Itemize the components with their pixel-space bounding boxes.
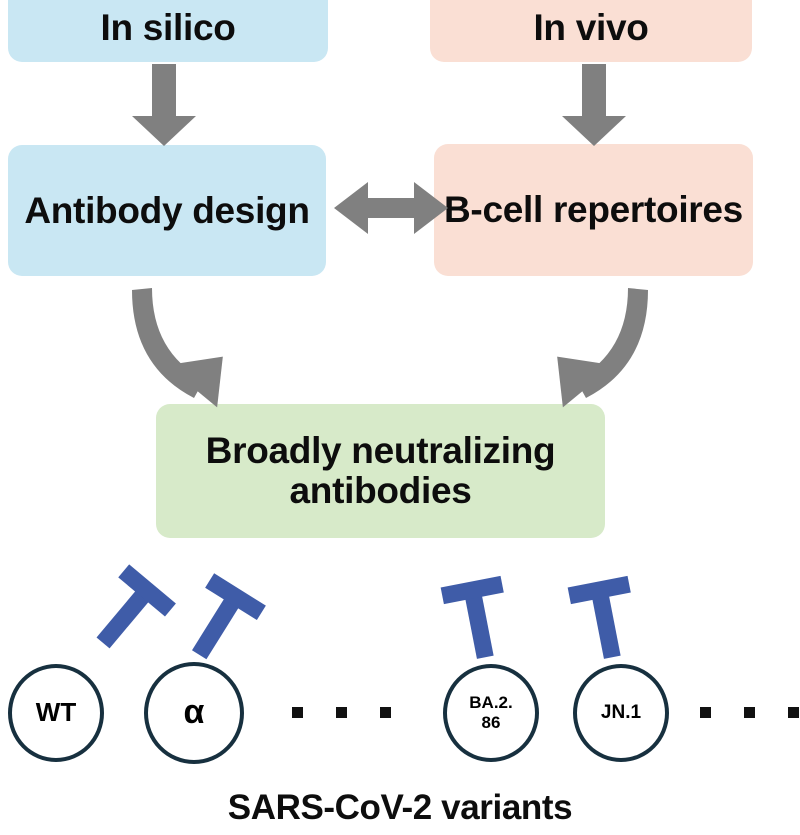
figure-canvas: In silico In vivo Antibody design B-cell…	[0, 0, 800, 835]
variant-label-ba286: BA.2. 86	[469, 693, 512, 732]
box-antibody-design-label: Antibody design	[24, 191, 309, 231]
ellipsis-dot	[788, 707, 799, 718]
variant-circle-jn1[interactable]: JN.1	[573, 664, 669, 762]
variant-label-ba286-line2: 86	[482, 713, 501, 732]
box-in-vivo[interactable]: In vivo	[430, 0, 752, 62]
variant-circle-wt[interactable]: WT	[8, 664, 104, 762]
box-in-silico-label: In silico	[100, 8, 235, 48]
box-broadly-neutralizing-antibodies[interactable]: Broadly neutralizing antibodies	[156, 404, 605, 538]
double-headed-arrow-icon	[334, 182, 448, 234]
down-arrow-icon-left	[132, 64, 196, 146]
ellipsis-dot	[380, 707, 391, 718]
t-bar-inhibition-icon-1	[80, 564, 176, 662]
ellipsis-dot	[336, 707, 347, 718]
curved-arrow-icon-right	[536, 288, 648, 407]
ellipsis-dot	[744, 707, 755, 718]
box-in-silico[interactable]: In silico	[8, 0, 328, 62]
variant-label-alpha: α	[184, 693, 205, 732]
variant-label-jn1: JN.1	[601, 702, 641, 724]
curved-arrow-icon-left	[132, 288, 244, 407]
box-bcell-repertoires[interactable]: B-cell repertoires	[434, 144, 753, 276]
ellipsis-dot	[700, 707, 711, 718]
variant-circle-alpha[interactable]: α	[144, 662, 244, 764]
down-arrow-icon-right	[562, 64, 626, 146]
figure-caption: SARS-CoV-2 variants	[0, 788, 800, 828]
box-antibody-design[interactable]: Antibody design	[8, 145, 326, 276]
ellipsis-dot	[292, 707, 303, 718]
t-bar-inhibition-icon-4	[568, 576, 643, 663]
variant-label-ba286-line1: BA.2.	[469, 693, 512, 712]
box-bnabs-label: Broadly neutralizing antibodies	[156, 431, 605, 511]
t-bar-inhibition-icon-2	[173, 573, 266, 671]
t-bar-inhibition-icon-3	[441, 576, 516, 663]
variant-circle-ba286[interactable]: BA.2. 86	[443, 664, 539, 762]
box-in-vivo-label: In vivo	[533, 8, 648, 48]
box-bcell-repertoires-label: B-cell repertoires	[444, 190, 743, 230]
variant-label-wt: WT	[36, 698, 76, 728]
